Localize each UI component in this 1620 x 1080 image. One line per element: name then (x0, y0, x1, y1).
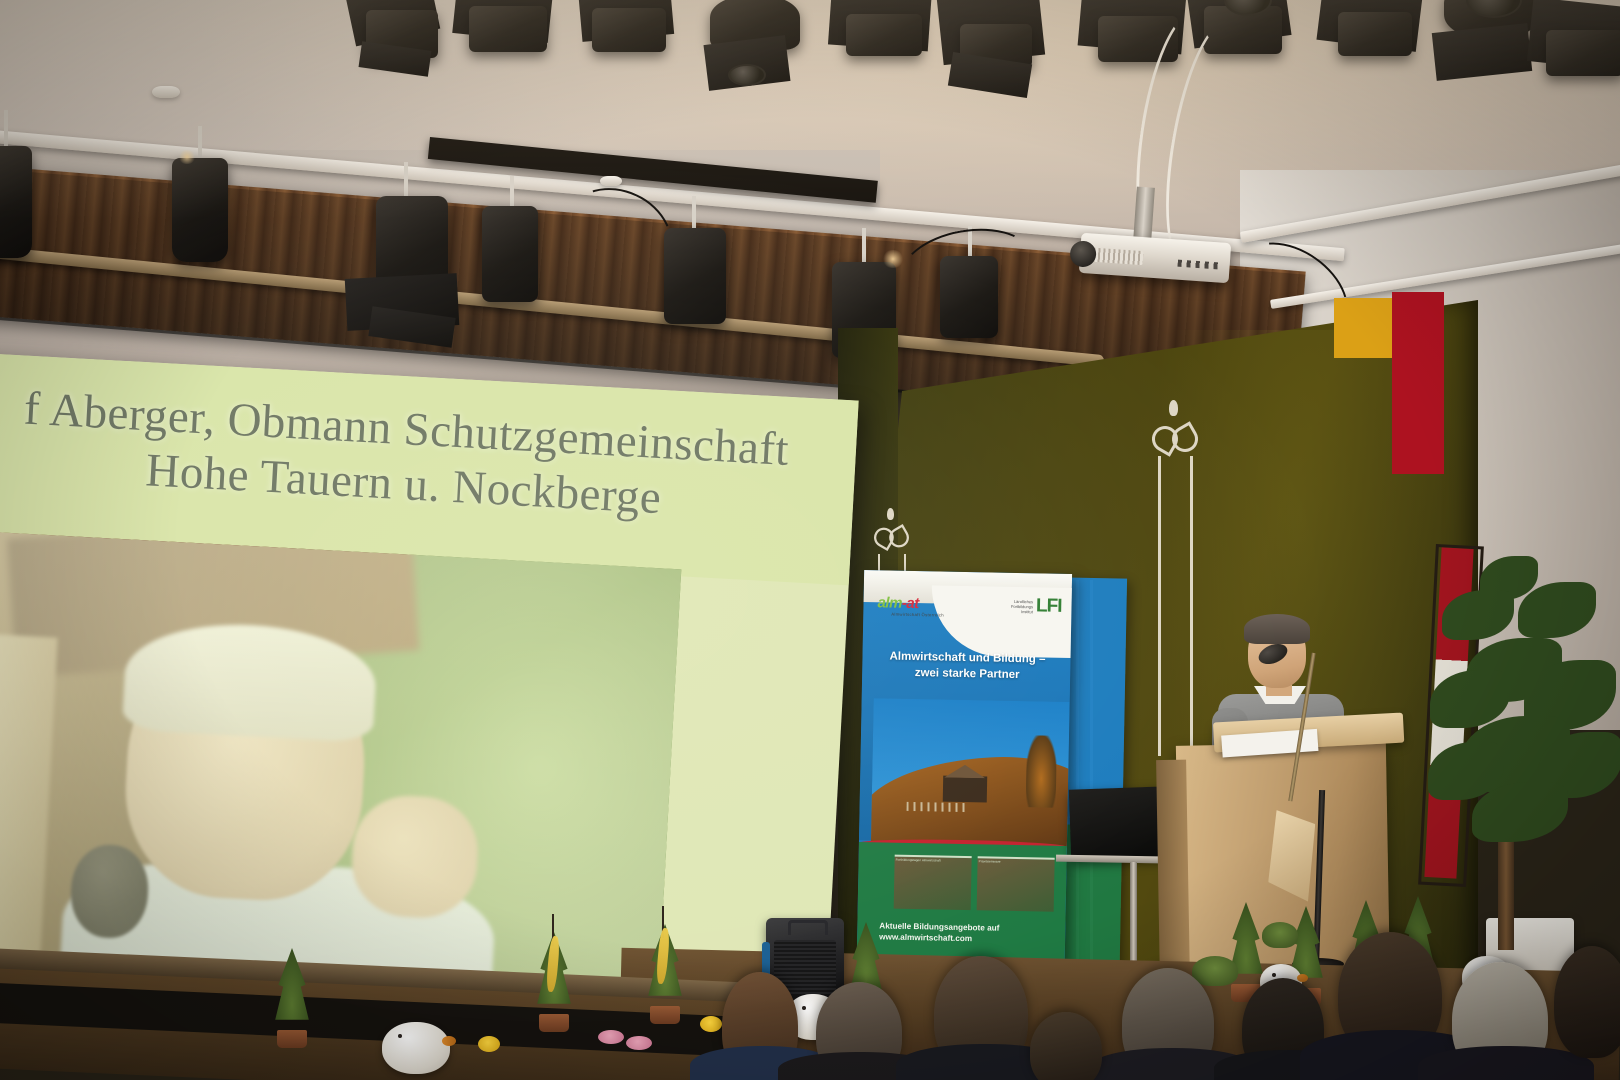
audience-head (1030, 1012, 1102, 1080)
banner-thumbnail: Fortbildungstagen Almwirtschaft (894, 855, 972, 910)
alm-at-logo-part2: -at (902, 595, 919, 612)
banner-headline-line1: Almwirtschaft und Bildung – (889, 651, 1045, 666)
alm-at-logo-subtitle: Almwirtschaft Österreich (891, 612, 944, 618)
alm-at-logo-part1: alm (877, 594, 902, 611)
lfi-logo-mark: LFI (1036, 595, 1062, 617)
audience-head (1554, 946, 1620, 1058)
conference-hall-photo: f Aberger, Obmann Schutzgemeinschaft Hoh… (0, 0, 1620, 1080)
banner-footer-line2: www.almwirtschaft.com (879, 932, 999, 946)
banner-alpine-photo (871, 698, 1070, 854)
lfi-line2: Fortbildungs (1011, 603, 1033, 608)
duck-eye-icon (398, 1034, 402, 1038)
banner-thumbnail-caption: Praxisseminare (978, 858, 1055, 865)
red-wall-panel (1392, 292, 1444, 474)
lfi-logo-text: Ländliches Fortbildungs Institut (1011, 598, 1033, 613)
rollup-banner: alm-at Almwirtschaft Österreich Ländlich… (856, 570, 1072, 1006)
duck-beak-icon (442, 1036, 456, 1046)
lfi-logo: Ländliches Fortbildungs Institut LFI (1011, 595, 1062, 618)
audience-shoulders (1418, 1046, 1594, 1080)
duck-beak-icon (1297, 974, 1308, 982)
ficus-plant (1420, 520, 1620, 940)
banner-footer-text: Aktuelle Bildungsangebote auf www.almwir… (879, 920, 1000, 945)
smoke-detector-icon (600, 176, 622, 186)
banner-thumbnail-caption: Fortbildungstagen Almwirtschaft (895, 857, 972, 864)
smoke-detector-icon (152, 86, 180, 98)
duck-eye-icon (802, 1006, 806, 1010)
speaker-hair (1244, 614, 1310, 644)
alm-at-logo: alm-at (877, 594, 919, 612)
banner-thumbnail: Praxisseminare (977, 856, 1055, 911)
pa-speaker-handle (788, 920, 828, 935)
duck-figurine (382, 1022, 450, 1074)
duck-eye-icon (1272, 973, 1276, 977)
lfi-line3: Institut (1011, 608, 1033, 613)
yellow-wall-panel (1334, 298, 1392, 358)
banner-thumbnail-row: Fortbildungstagen Almwirtschaft Praxisse… (894, 855, 1055, 912)
banner-headline: Almwirtschaft und Bildung – zwei starke … (872, 648, 1063, 684)
projector-mount (1133, 187, 1155, 242)
